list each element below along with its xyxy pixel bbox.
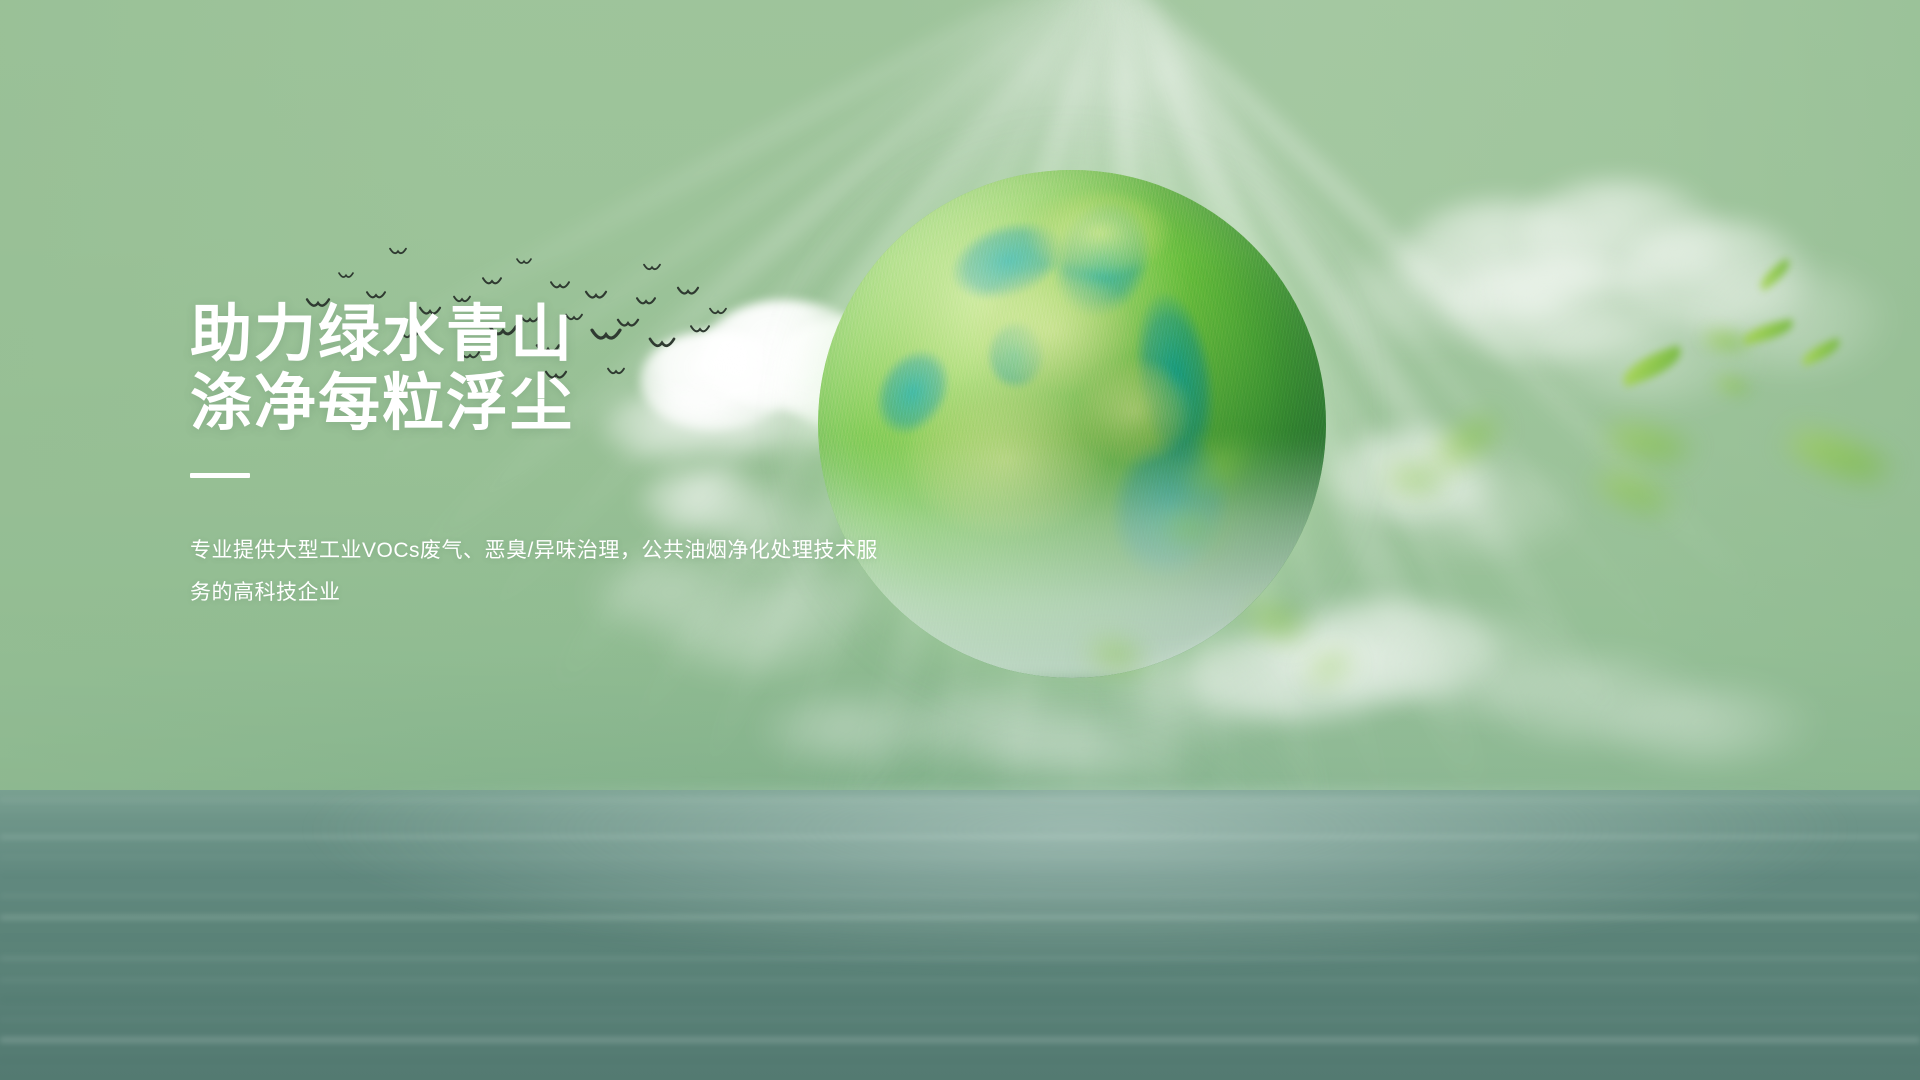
title-divider bbox=[190, 473, 250, 478]
water-highlight bbox=[0, 790, 1920, 1080]
banner-copy: 助力绿水青山 涤净每粒浮尘 专业提供大型工业VOCs废气、恶臭/异味治理，公共油… bbox=[190, 300, 950, 635]
headline-line-1: 助力绿水青山 bbox=[190, 300, 574, 369]
banner-subtitle: 专业提供大型工业VOCs废气、恶臭/异味治理，公共油烟净化处理技术服务的高科技企… bbox=[190, 530, 880, 614]
headline-line-2: 涤净每粒浮尘 bbox=[190, 369, 574, 438]
hero-banner: 助力绿水青山 涤净每粒浮尘 专业提供大型工业VOCs废气、恶臭/异味治理，公共油… bbox=[0, 0, 1920, 1080]
page-title: 助力绿水青山 涤净每粒浮尘 bbox=[190, 300, 950, 439]
